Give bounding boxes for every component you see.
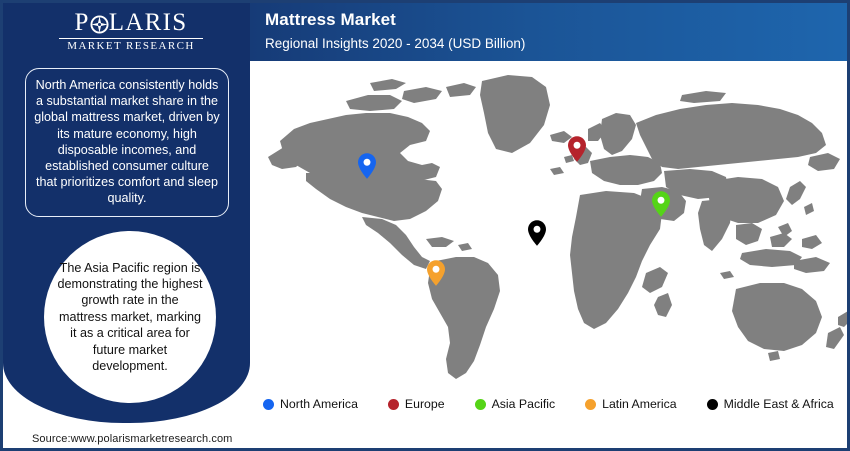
page-subtitle: Regional Insights 2020 - 2034 (USD Billi…	[265, 34, 525, 54]
header-bar: P LARIS MARKET RESEARCH Mattress Market …	[3, 3, 850, 61]
legend-dot-north-america	[263, 399, 274, 410]
legend-dot-asia-pacific	[475, 399, 486, 410]
map-landmasses	[268, 75, 850, 379]
logo-letter-p: P	[75, 10, 90, 36]
legend-dot-middle-east-africa	[707, 399, 718, 410]
infographic-root: P LARIS MARKET RESEARCH Mattress Market …	[0, 0, 850, 451]
legend-item-latin-america[interactable]: Latin America	[585, 398, 677, 411]
map-legend: North America Europe Asia Pacific Latin …	[250, 393, 850, 415]
page-title: Mattress Market	[265, 9, 525, 31]
legend-item-middle-east-africa[interactable]: Middle East & Africa	[707, 398, 834, 411]
logo-divider	[59, 38, 203, 39]
legend-label-latin-america: Latin America	[602, 398, 677, 411]
callout-asia-pacific: The Asia Pacific region is demonstrating…	[44, 231, 216, 403]
legend-dot-europe	[388, 399, 399, 410]
legend-dot-latin-america	[585, 399, 596, 410]
legend-label-asia-pacific: Asia Pacific	[492, 398, 556, 411]
legend-item-europe[interactable]: Europe	[388, 398, 445, 411]
map-pin-middle-east-africa[interactable]	[528, 220, 546, 246]
legend-item-asia-pacific[interactable]: Asia Pacific	[475, 398, 556, 411]
map-pin-asia-pacific[interactable]	[652, 191, 670, 217]
map-pin-latin-america[interactable]	[427, 260, 445, 286]
logo-wordmark: P LARIS	[56, 10, 206, 36]
compass-star-icon	[90, 14, 109, 33]
logo-letters-laris: LARIS	[109, 10, 188, 36]
legend-label-europe: Europe	[405, 398, 445, 411]
legend-label-middle-east-africa: Middle East & Africa	[724, 398, 834, 411]
legend-item-north-america[interactable]: North America	[263, 398, 358, 411]
source-label: Source:www.polarismarketresearch.com	[32, 433, 232, 445]
callout-north-america: North America consistently holds a subst…	[25, 68, 229, 217]
polaris-logo: P LARIS MARKET RESEARCH	[56, 10, 206, 52]
logo-subtitle: MARKET RESEARCH	[56, 40, 206, 52]
world-map-svg	[250, 61, 850, 391]
map-pin-europe[interactable]	[568, 136, 586, 162]
map-pin-north-america[interactable]	[358, 153, 376, 179]
callout-asia-pacific-text: The Asia Pacific region is demonstrating…	[56, 260, 204, 375]
header-title-group: Mattress Market Regional Insights 2020 -…	[265, 9, 525, 54]
sidebar-content: North America consistently holds a subst…	[3, 61, 250, 423]
legend-label-north-america: North America	[280, 398, 358, 411]
